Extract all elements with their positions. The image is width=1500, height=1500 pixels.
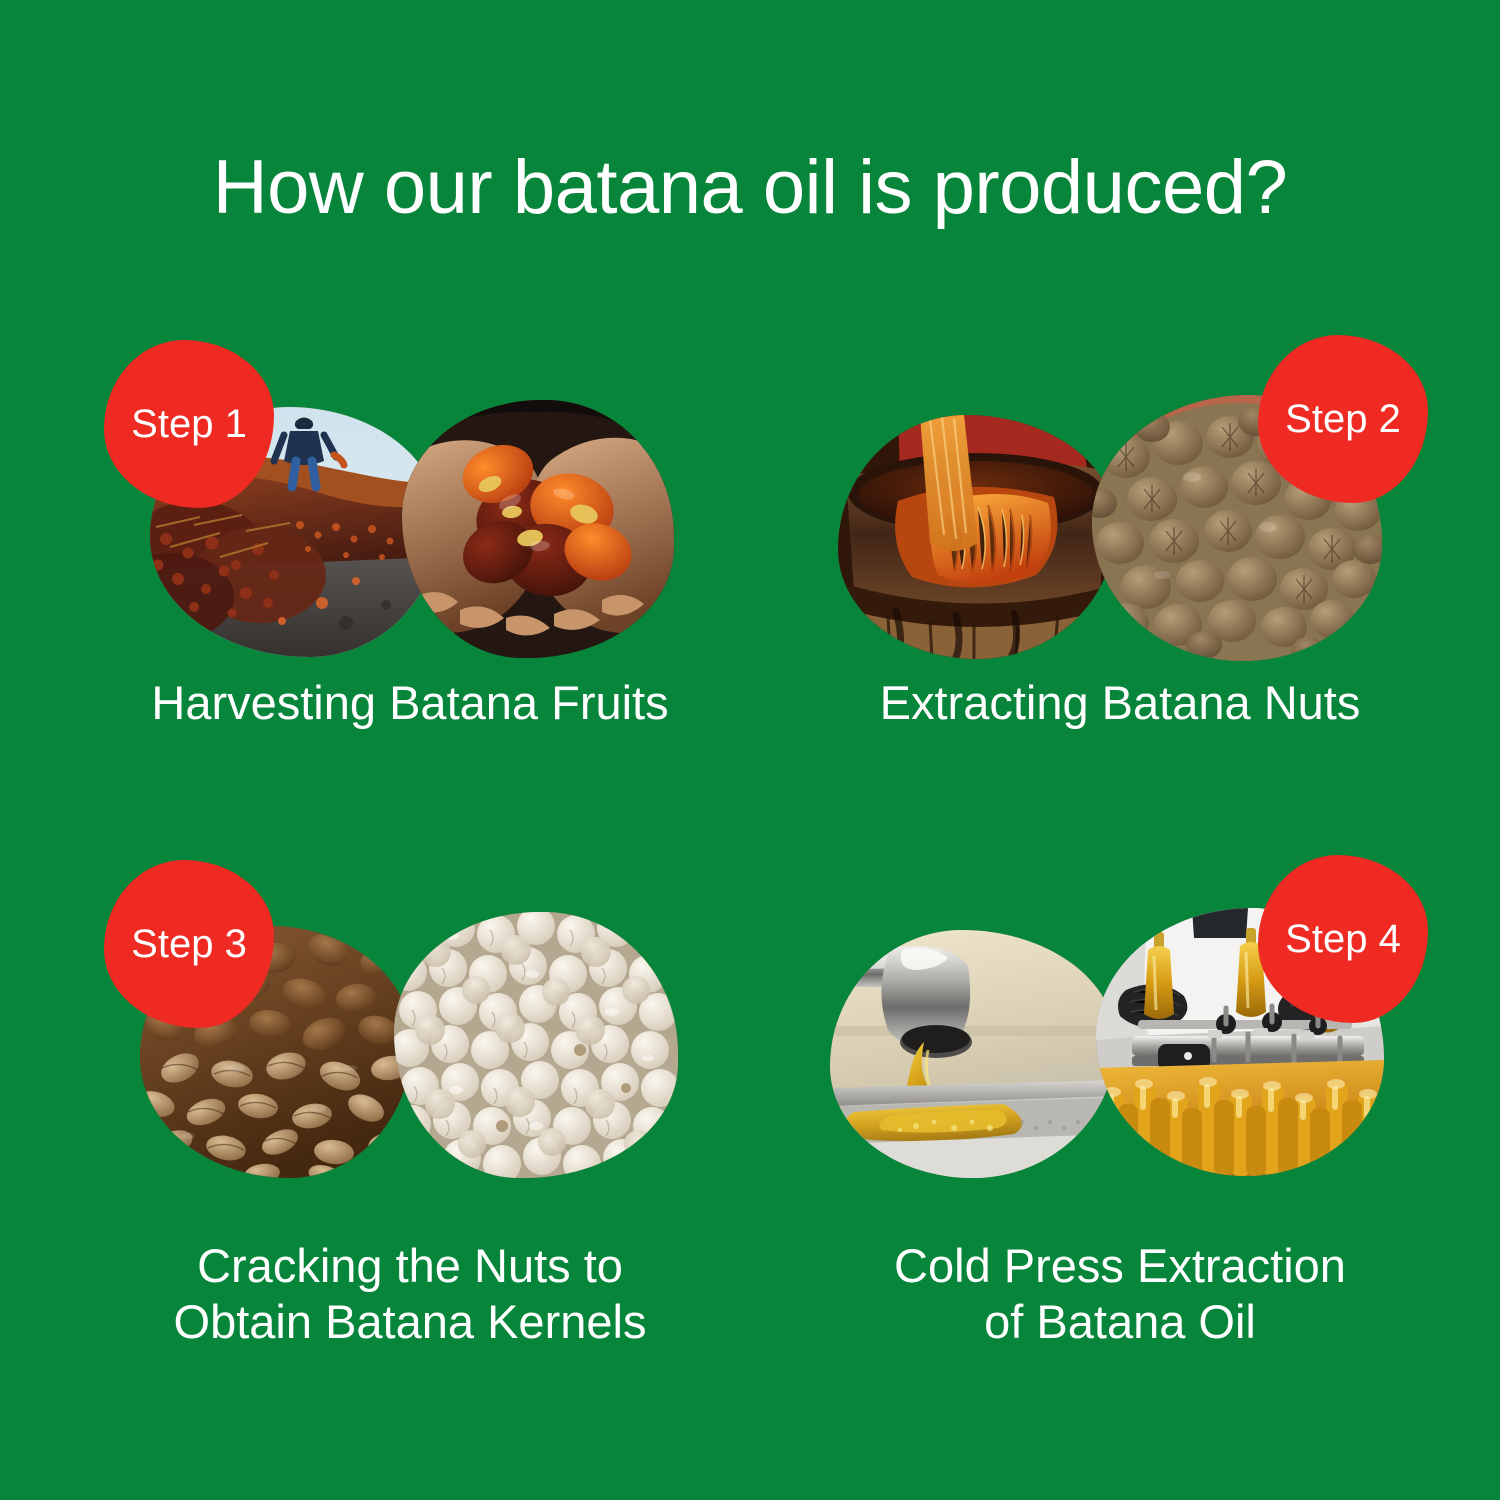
step-badge-3-label: Step 3 <box>131 922 247 967</box>
wooden-mortar-pounding-photo <box>838 415 1116 659</box>
step-badge-4: Step 4 <box>1258 855 1428 1023</box>
step-3-photo-group: Step 3 <box>110 860 710 1170</box>
step-2-photo-group: Step 2 <box>820 345 1420 655</box>
step-badge-4-label: Step 4 <box>1285 917 1401 962</box>
step-caption-4: Cold Press Extraction of Batana Oil <box>820 1238 1420 1351</box>
hands-holding-palm-fruits-photo <box>402 400 674 658</box>
oil-pouring-from-press-photo <box>830 930 1116 1178</box>
step-card-3: Step 3 Cracking the Nuts to Obtain Batan… <box>110 860 710 1360</box>
page-title: How our batana oil is produced? <box>0 150 1500 226</box>
step-4-photo-group: Step 4 <box>820 860 1420 1170</box>
bottle-field <box>1102 1077 1380 1176</box>
white-batana-kernels-photo <box>394 912 678 1178</box>
infographic-page: How our batana oil is produced? <box>0 0 1500 1500</box>
step-badge-2-label: Step 2 <box>1285 397 1401 442</box>
step-badge-2: Step 2 <box>1258 335 1428 503</box>
step-caption-1: Harvesting Batana Fruits <box>110 675 710 731</box>
step-badge-3: Step 3 <box>104 860 274 1028</box>
step-badge-1-label: Step 1 <box>131 402 247 447</box>
step-badge-1: Step 1 <box>104 340 274 508</box>
step-1-photo-group: Step 1 <box>110 345 710 655</box>
step-caption-3: Cracking the Nuts to Obtain Batana Kerne… <box>110 1238 710 1351</box>
step-card-1: Step 1 Harvesting Batana Fruits <box>110 345 710 785</box>
step-card-2: Step 2 Extracting Batana Nuts <box>820 345 1420 785</box>
step-caption-2: Extracting Batana Nuts <box>820 675 1420 731</box>
step-card-4: Step 4 Cold Press Extraction of Batana O… <box>820 860 1420 1360</box>
